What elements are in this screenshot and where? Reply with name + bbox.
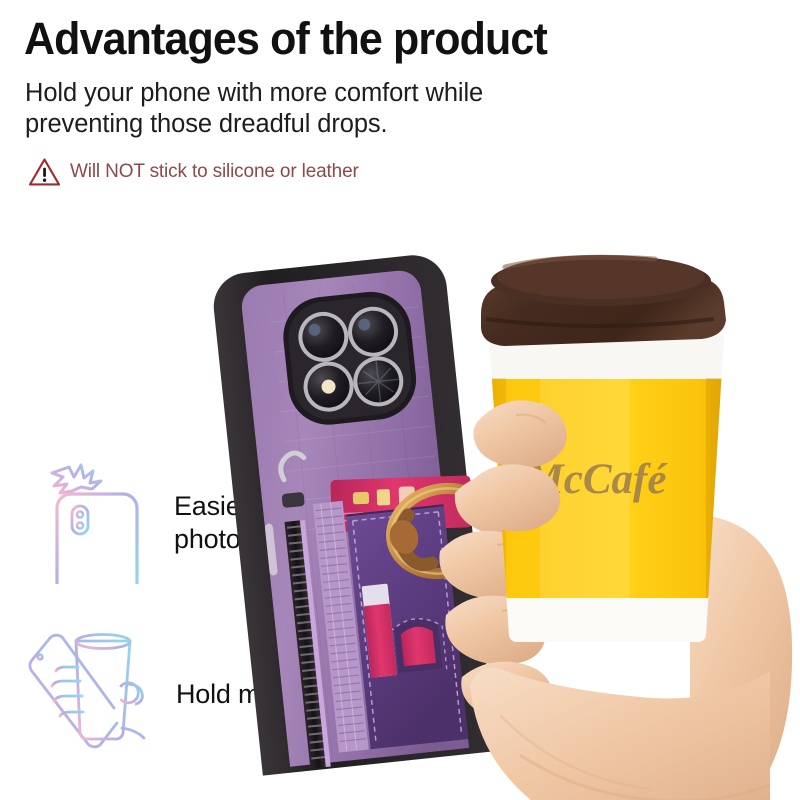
cup-white-bottom-band	[480, 598, 736, 648]
product-photo: McCafé	[0, 215, 800, 800]
phone-case	[210, 252, 499, 776]
product-photo-illustration: McCafé	[0, 215, 800, 800]
warning-label: Will NOT stick to silicone or leather	[70, 161, 359, 183]
page-subtitle: Hold your phone with more comfort while …	[25, 78, 585, 140]
camera-module	[279, 288, 420, 429]
page-title: Advantages of the product	[24, 14, 693, 64]
subtitle-line-1: Hold your phone with more comfort while	[25, 78, 585, 109]
product-advantages-banner: Advantages of the product Hold your phon…	[0, 0, 800, 800]
cup-lid	[481, 255, 726, 346]
subtitle-line-2: preventing those dreadful drops.	[25, 109, 585, 140]
warning-triangle-icon	[28, 157, 61, 187]
warning-note: Will NOT stick to silicone or leather	[28, 157, 359, 187]
